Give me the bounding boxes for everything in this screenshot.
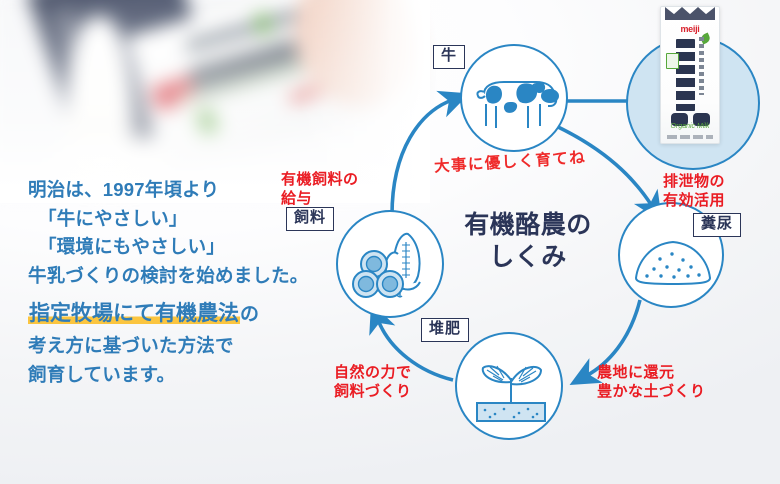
carton-brand: meiji [661, 24, 719, 34]
note-return-to-land-line-2: 豊かな土づくり [597, 382, 706, 401]
diagram-title-line-1: 有機酪農の [438, 209, 618, 241]
node-cow[interactable] [460, 44, 568, 152]
note-return-to-land: 農地に還元 豊かな土づくり [597, 363, 706, 401]
corn-feed-icon [338, 212, 446, 320]
tag-compost: 堆肥 [421, 318, 469, 342]
sprout-soil-icon [457, 334, 565, 442]
note-feed-supply-line-2: 給与 [281, 189, 359, 208]
note-waste-use-line-1: 排泄物の [663, 172, 725, 191]
tag-manure: 糞尿 [693, 213, 741, 237]
note-natural-power-line-2: 飼料づくり [334, 382, 412, 401]
note-waste-use-line-2: 有効活用 [663, 191, 725, 210]
diagram-title: 有機酪農の しくみ [438, 209, 618, 273]
note-waste-use: 排泄物の 有効活用 [663, 172, 725, 210]
note-return-to-land-line-1: 農地に還元 [597, 363, 706, 382]
slide-canvas: 明治は、1997年頃より 「牛にやさしい」 「環境にもやさしい」 牛乳づくりの検… [0, 0, 780, 484]
note-natural-power: 自然の力で 飼料づくり [334, 363, 412, 401]
note-feed-supply-line-1: 有機飼料の [281, 170, 359, 189]
note-feed-supply: 有機飼料の 給与 [281, 170, 359, 208]
cow-icon [462, 46, 570, 154]
diagram-title-line-2: しくみ [438, 241, 618, 273]
carton-script: Organic Milk [661, 123, 719, 130]
tag-feed: 飼料 [286, 207, 334, 231]
note-natural-power-line-1: 自然の力で [334, 363, 412, 382]
tag-cow: 牛 [433, 45, 465, 69]
milk-carton-icon: meiji Organic Milk [660, 6, 720, 144]
node-field[interactable] [455, 332, 563, 440]
node-feed[interactable] [336, 210, 444, 318]
